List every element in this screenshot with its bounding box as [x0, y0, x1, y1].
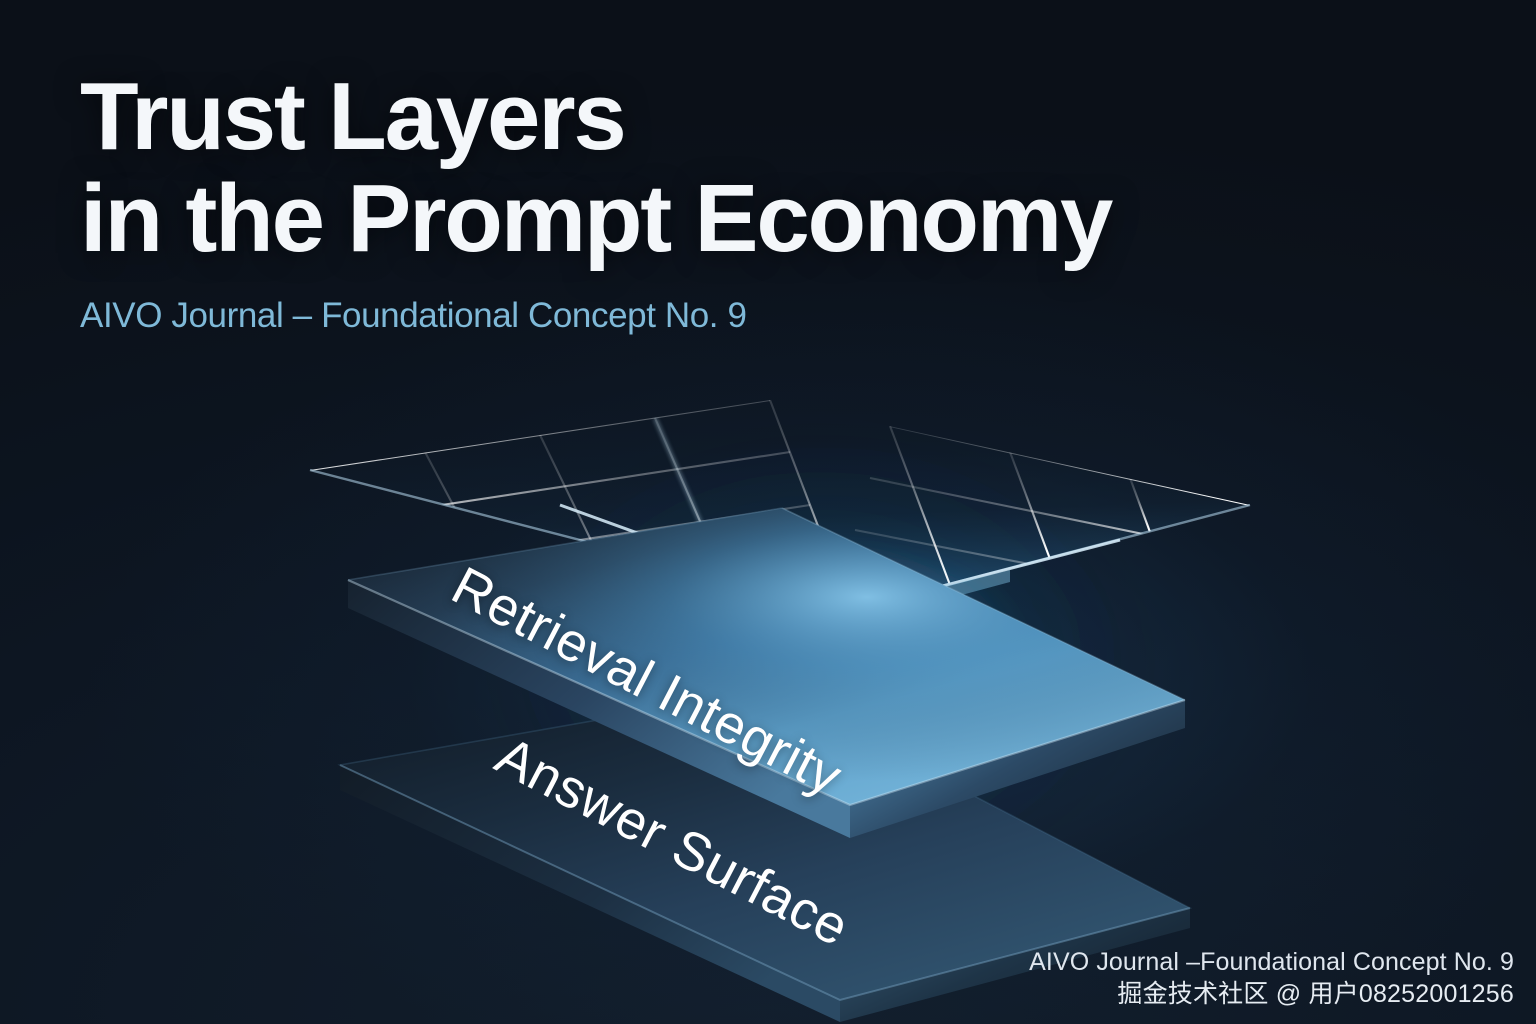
watermark: AIVO Journal –Foundational Concept No. 9… — [1029, 946, 1514, 1010]
header-text-block: Trust Layers in the Prompt Economy AIVO … — [80, 66, 1111, 336]
page-title-line-2: in the Prompt Economy — [80, 168, 1111, 270]
poster-canvas: Retrieval Integrity Answer Surface Trust… — [0, 0, 1536, 1024]
page-title-line-1: Trust Layers — [80, 66, 1111, 168]
page-subtitle: AIVO Journal – Foundational Concept No. … — [80, 296, 1111, 336]
watermark-line-1: AIVO Journal –Foundational Concept No. 9 — [1029, 946, 1514, 978]
watermark-line-2: 掘金技术社区 @ 用户08252001256 — [1029, 978, 1514, 1010]
